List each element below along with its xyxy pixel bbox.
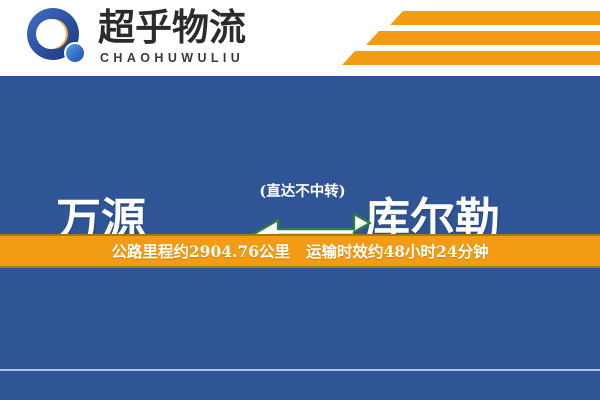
info-bar: 公路里程约2904.76公里 运输时效约48小时24分钟 xyxy=(0,234,600,268)
coverage-band: 团结街道、萨依巴格街道、天山街道、新城街道、建设街道、朝阳街道、梨香街道、塔什店… xyxy=(0,268,600,400)
bottom-divider xyxy=(0,369,600,371)
duration-text: 运输时效约48小时24分钟 xyxy=(306,240,489,262)
stripe-2 xyxy=(366,31,600,45)
route-band: 万源 库尔勒 (直达不中转) 【往返运输】 xyxy=(0,76,600,234)
brand: 超乎物流 CHAOHUWULIU xyxy=(98,6,270,70)
stripe-1 xyxy=(390,11,600,25)
distance-text: 公路里程约2904.76公里 xyxy=(111,240,290,262)
stripe-3 xyxy=(342,51,600,65)
logistics-route-poster: 超乎物流 CHAOHUWULIU 万源 库尔勒 (直达不中转) 【往返运输】 公… xyxy=(0,0,600,400)
direct-service-note: (直达不中转) xyxy=(240,180,365,201)
decorative-stripes xyxy=(330,0,600,76)
brand-name-en: CHAOHUWULIU xyxy=(98,51,270,65)
brand-name-cn: 超乎物流 xyxy=(98,6,270,50)
header: 超乎物流 CHAOHUWULIU xyxy=(0,0,600,76)
circular-moon-logo-icon xyxy=(22,6,94,68)
